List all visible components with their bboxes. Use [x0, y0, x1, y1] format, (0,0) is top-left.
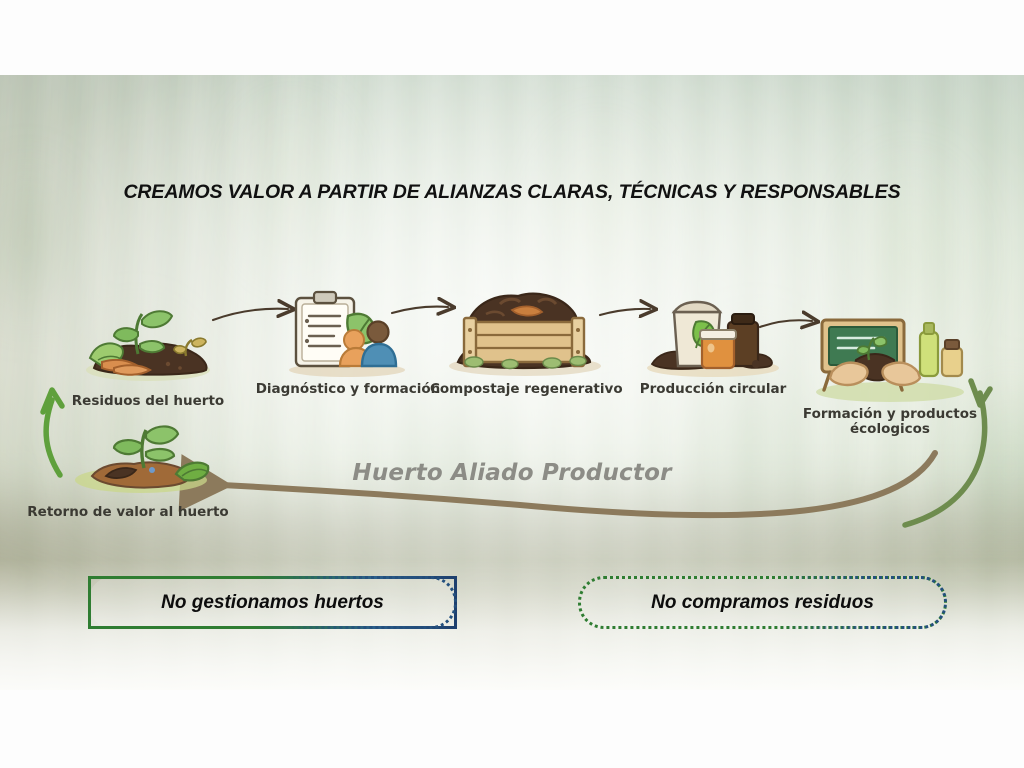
cycle-label-residuos: Residuos del huerto	[36, 394, 260, 409]
cycle-label-produccion: Producción circular	[630, 382, 796, 397]
cycle-node-diagnostico[interactable]	[282, 288, 412, 378]
cycle-label-formacion: Formación y productos écologicos	[790, 407, 990, 437]
clipboard-people-icon	[282, 288, 412, 378]
cycle-node-formacion[interactable]	[806, 310, 974, 404]
page-title: CREAMOS VALOR A PARTIR DE ALIANZAS CLARA…	[0, 181, 1024, 204]
cycle-label-diagnostico: Diagnóstico y formación	[250, 382, 446, 397]
cycle-node-residuos[interactable]	[68, 298, 228, 384]
cycle-center-label: Huerto Aliado Productor	[0, 460, 1024, 486]
cycle-label-compostaje: Compostaje regenerativo	[430, 382, 620, 397]
cycle-node-compostaje[interactable]	[440, 278, 610, 378]
sack-jars-icon	[640, 292, 786, 378]
soil-vegetables-icon	[68, 298, 228, 384]
badge-border-blue-edge	[287, 576, 457, 629]
cycle-node-produccion[interactable]	[640, 292, 786, 378]
cycle-label-retorno: Retorno de valor al huerto	[12, 505, 244, 520]
chalkboard-hands-icon	[806, 310, 974, 404]
badge-border-blue-edge	[777, 576, 947, 629]
badge-no-compramos-residuos[interactable]: No compramos residuos	[578, 576, 947, 629]
compost-bin-icon	[440, 278, 610, 378]
badge-no-gestionamos-huertos[interactable]: No gestionamos huertos	[88, 576, 457, 629]
slide-canvas: CREAMOS VALOR A PARTIR DE ALIANZAS CLARA…	[0, 0, 1024, 768]
